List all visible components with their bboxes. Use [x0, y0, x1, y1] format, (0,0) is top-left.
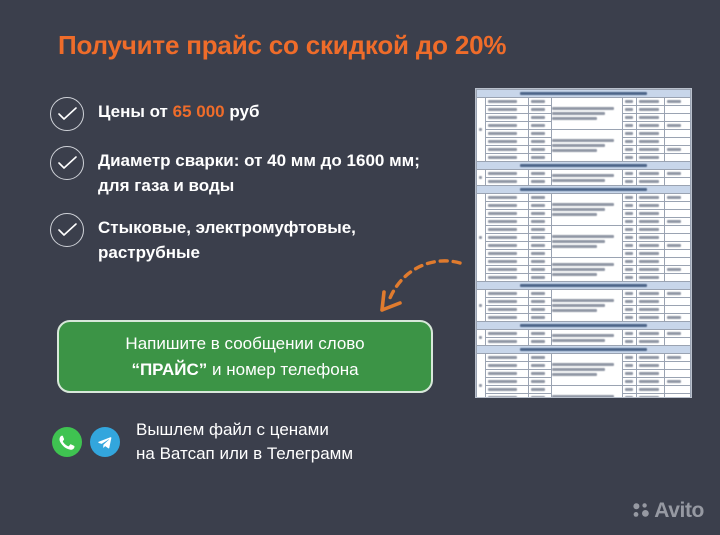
avito-wordmark: Avito — [654, 500, 704, 521]
list-item-label: Диаметр сварки: от 40 мм до 1600 мм; для… — [98, 145, 428, 198]
check-circle-icon — [50, 146, 84, 180]
messenger-line-2: на Ватсап или в Телеграмм — [136, 444, 353, 463]
table-row — [477, 330, 691, 338]
callout-quote-open: “ — [131, 360, 140, 379]
whatsapp-icon[interactable] — [52, 427, 82, 457]
table-row — [477, 386, 691, 394]
messenger-text: Вышлем файл с ценами на Ватсап или в Тел… — [136, 418, 353, 466]
table-section-header — [477, 186, 691, 194]
avito-watermark: Avito — [632, 500, 704, 521]
table-row — [477, 130, 691, 138]
table-row — [477, 226, 691, 234]
table-section-header — [477, 322, 691, 330]
page-title: Получите прайс со скидкой до 20% — [58, 28, 678, 62]
table-row — [477, 194, 691, 202]
messenger-line-1: Вышлем файл с ценами — [136, 420, 329, 439]
table-row — [477, 258, 691, 266]
dashed-curved-arrow-icon — [370, 250, 470, 325]
table-section-header — [477, 90, 691, 98]
callout-line-1: Напишите в сообщении слово — [125, 331, 364, 357]
table-row — [477, 170, 691, 178]
table-row — [477, 354, 691, 362]
price-list-document — [475, 88, 692, 398]
list-item: Диаметр сварки: от 40 мм до 1600 мм; для… — [50, 145, 450, 198]
feature-text-before: Цены от — [98, 102, 173, 121]
callout-line-2-rest: и номер телефона — [207, 360, 358, 379]
avito-dots-icon — [632, 502, 650, 520]
telegram-icon[interactable] — [90, 427, 120, 457]
list-item: Цены от 65 000 руб — [50, 96, 450, 131]
table-row — [477, 290, 691, 298]
list-item-label: Цены от 65 000 руб — [98, 96, 259, 124]
feature-list: Цены от 65 000 руб Диаметр сварки: от 40… — [50, 96, 450, 265]
feature-text-after: руб — [225, 102, 260, 121]
messenger-contact-row: Вышлем файл с ценами на Ватсап или в Тел… — [52, 418, 353, 466]
feature-highlight: 65 000 — [173, 102, 225, 121]
table-row — [477, 98, 691, 106]
table-section-header — [477, 282, 691, 290]
table-section-header — [477, 346, 691, 354]
check-circle-icon — [50, 97, 84, 131]
callout-line-2: “ПРАЙС” и номер телефона — [131, 357, 358, 383]
price-table — [476, 89, 691, 398]
check-circle-icon — [50, 213, 84, 247]
callout-keyword: ПРАЙС — [140, 360, 199, 379]
table-section-header — [477, 162, 691, 170]
price-request-callout: Напишите в сообщении слово “ПРАЙС” и ном… — [57, 320, 433, 393]
